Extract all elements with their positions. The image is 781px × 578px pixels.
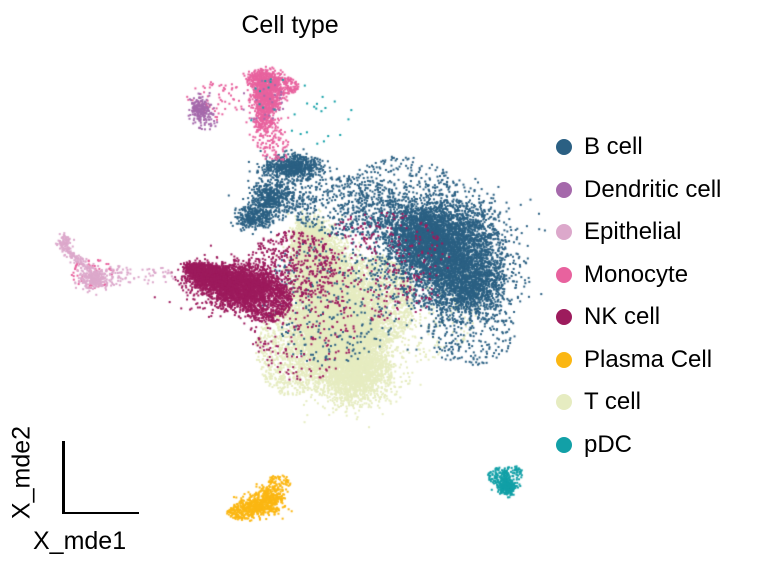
legend-item[interactable]: NK cell xyxy=(556,296,781,339)
legend-item-label: Monocyte xyxy=(584,261,688,289)
legend-color-swatch xyxy=(556,309,572,325)
legend-item-label: Dendritic cell xyxy=(584,176,721,204)
y-axis-label: X_mde2 xyxy=(8,408,37,538)
legend-color-swatch xyxy=(556,267,572,283)
legend-item-label: B cell xyxy=(584,133,643,161)
legend-item-label: T cell xyxy=(584,388,641,416)
x-axis-label: X_mde1 xyxy=(33,527,126,556)
scatter-plot-figure: Cell type X_mde1 X_mde2 B cellDendritic … xyxy=(0,0,781,578)
legend-color-swatch xyxy=(556,182,572,198)
legend-color-swatch xyxy=(556,224,572,240)
page-title: Cell type xyxy=(0,10,580,40)
legend-item[interactable]: T cell xyxy=(556,381,781,424)
legend-item-label: NK cell xyxy=(584,303,660,331)
legend-color-swatch xyxy=(556,352,572,368)
y-axis-line xyxy=(62,441,65,514)
legend-item[interactable]: pDC xyxy=(556,424,781,467)
legend: B cellDendritic cellEpithelialMonocyteNK… xyxy=(556,126,781,466)
axis-indicator xyxy=(58,436,150,526)
legend-item-label: Plasma Cell xyxy=(584,346,712,374)
legend-item[interactable]: Epithelial xyxy=(556,211,781,254)
x-axis-line xyxy=(62,512,139,515)
legend-item-label: pDC xyxy=(584,431,632,459)
legend-item[interactable]: Monocyte xyxy=(556,254,781,297)
legend-item-label: Epithelial xyxy=(584,218,681,246)
legend-color-swatch xyxy=(556,394,572,410)
legend-item[interactable]: Plasma Cell xyxy=(556,339,781,382)
legend-color-swatch xyxy=(556,437,572,453)
legend-item[interactable]: B cell xyxy=(556,126,781,169)
legend-color-swatch xyxy=(556,139,572,155)
legend-item[interactable]: Dendritic cell xyxy=(556,169,781,212)
